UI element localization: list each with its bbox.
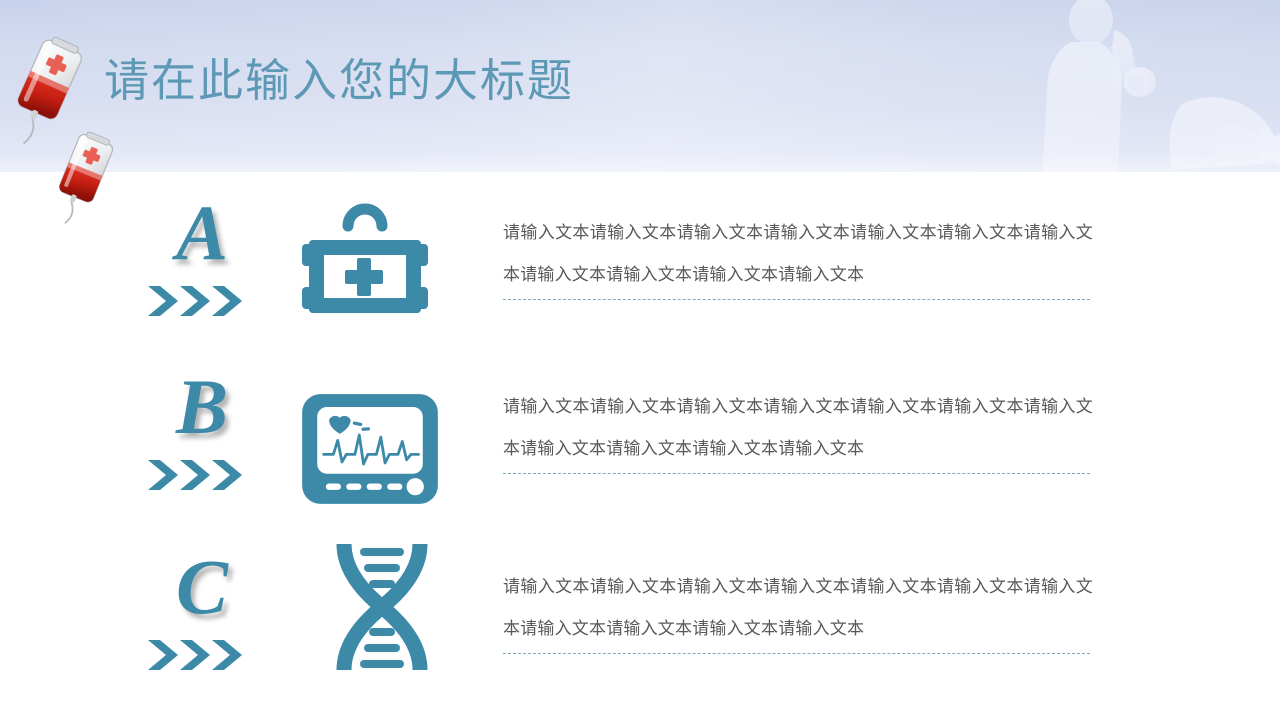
content-row-c: C <box>0 542 1280 712</box>
row-marker-b: B <box>150 362 260 512</box>
row-marker-c: C <box>150 542 260 692</box>
row-text-c: 请输入文本请输入文本请输入文本请输入文本请输入文本请输入文本请输入文本请输入文本… <box>503 566 1093 650</box>
ecg-vital-signs-monitor-icon <box>300 384 440 514</box>
row-marker-a: A <box>150 188 260 338</box>
row-text-b: 请输入文本请输入文本请输入文本请输入文本请输入文本请输入文本请输入文本请输入文本… <box>503 386 1093 470</box>
row-letter-a: A <box>150 194 254 272</box>
row-divider-b <box>503 473 1090 474</box>
first-aid-kit-icon <box>292 196 432 326</box>
content-rows: A <box>0 172 1280 720</box>
doctor-stethoscope-watermark-image <box>986 0 1280 172</box>
dna-helix-icon <box>312 542 452 672</box>
content-row-a: A <box>0 188 1280 358</box>
triple-chevron-right-icon <box>146 456 250 494</box>
row-body-b: 请输入文本请输入文本请输入文本请输入文本请输入文本请输入文本请输入文本请输入文本… <box>503 386 1093 474</box>
slide-header-band: 请在此输入您的大标题 <box>0 0 1280 172</box>
content-row-b: B <box>0 362 1280 532</box>
page-title: 请在此输入您的大标题 <box>104 56 574 106</box>
row-divider-a <box>503 299 1090 300</box>
triple-chevron-right-icon <box>146 636 250 674</box>
row-body-a: 请输入文本请输入文本请输入文本请输入文本请输入文本请输入文本请输入文本请输入文本… <box>503 212 1093 300</box>
slide-canvas: 请在此输入您的大标题 <box>0 0 1280 720</box>
row-body-c: 请输入文本请输入文本请输入文本请输入文本请输入文本请输入文本请输入文本请输入文本… <box>503 566 1093 654</box>
row-text-a: 请输入文本请输入文本请输入文本请输入文本请输入文本请输入文本请输入文本请输入文本… <box>503 212 1093 296</box>
triple-chevron-right-icon <box>146 282 250 320</box>
row-letter-c: C <box>150 548 254 626</box>
row-divider-c <box>503 653 1090 654</box>
row-letter-b: B <box>150 368 254 446</box>
